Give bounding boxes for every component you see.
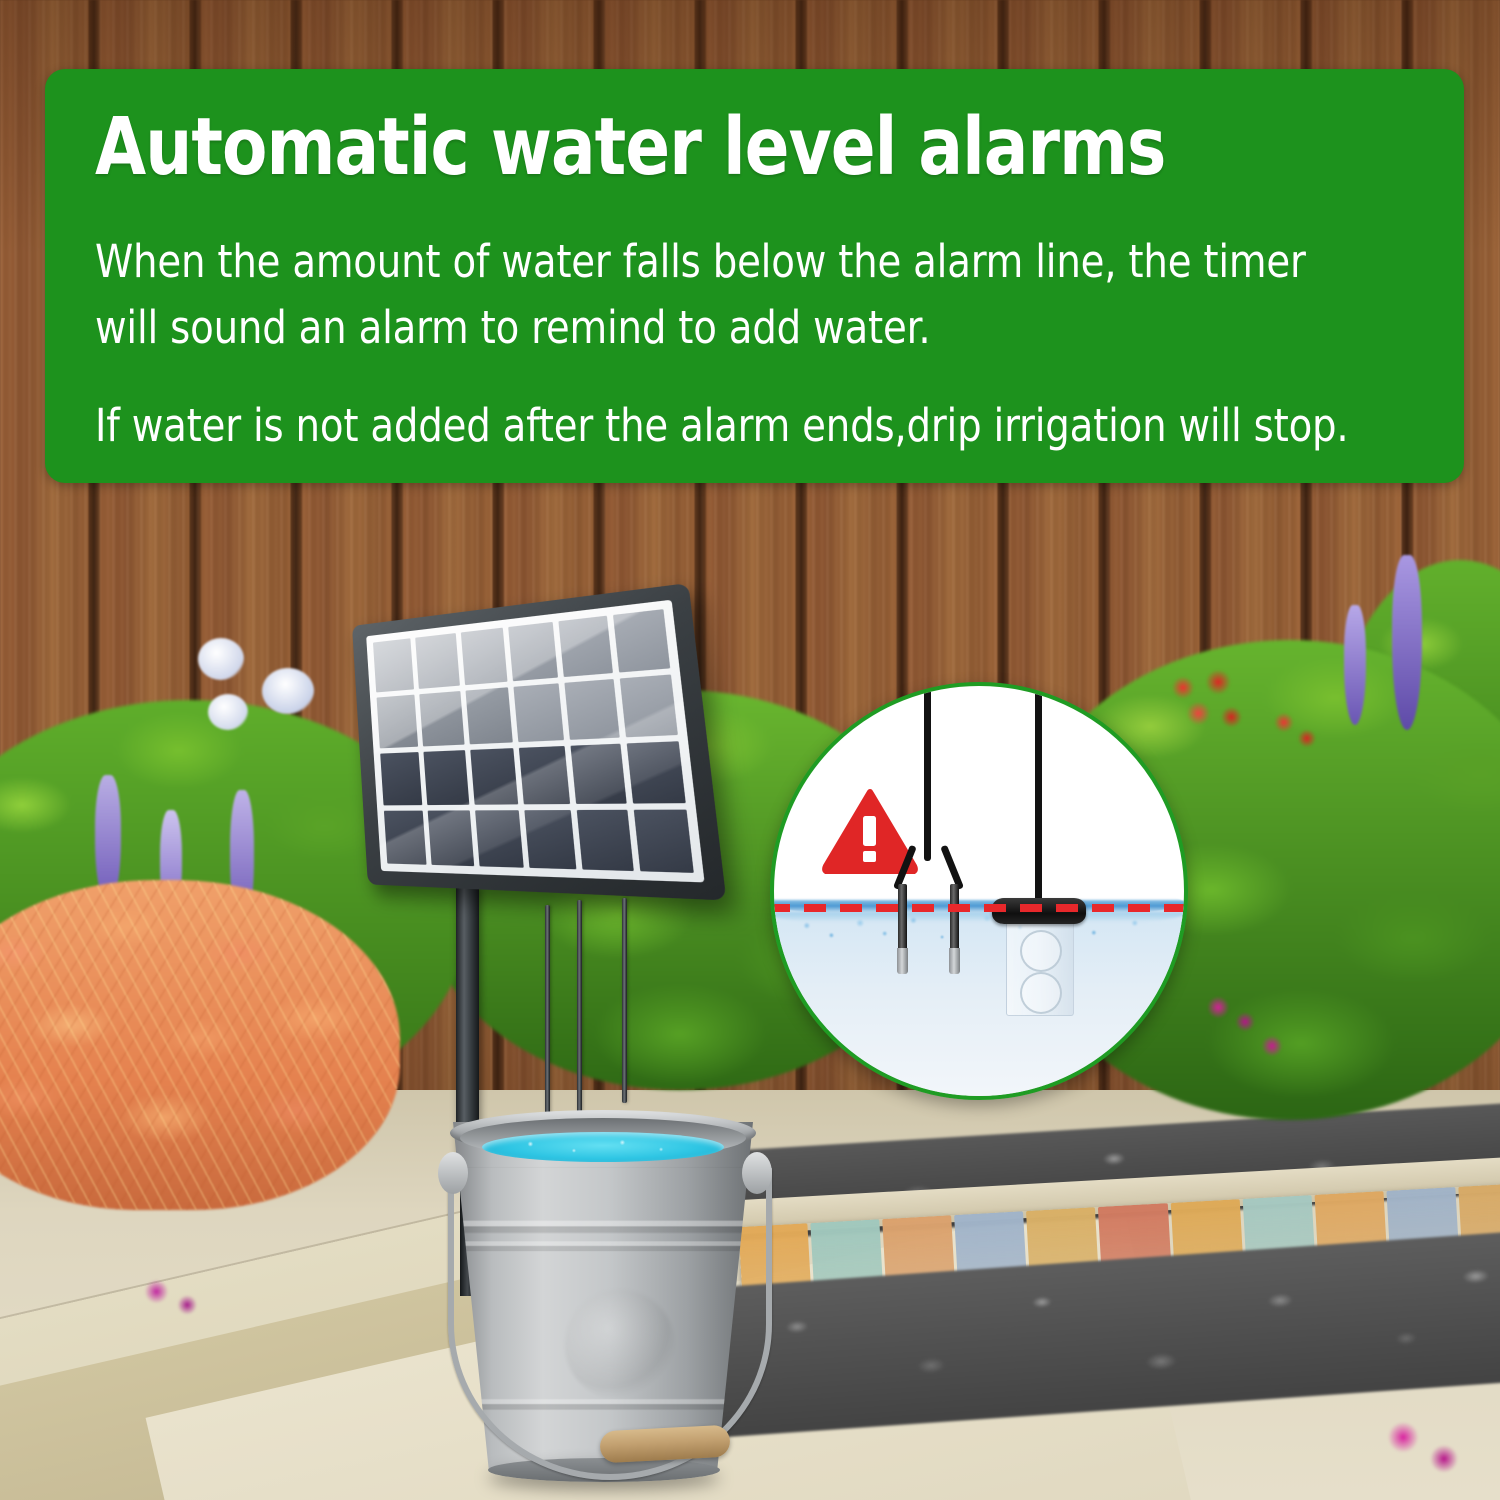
- plant-red-flower-2: [1258, 700, 1332, 764]
- solar-cell: [577, 810, 633, 871]
- plant-magenta-petunia-4: [120, 1262, 216, 1336]
- solar-cell: [384, 811, 427, 865]
- info-banner: Automatic water level alarms When the am…: [45, 69, 1464, 483]
- banner-paragraph-1: When the amount of water falls below the…: [95, 229, 1375, 361]
- probe-prong-left: [898, 884, 907, 952]
- filter-cable: [1035, 682, 1042, 904]
- solar-cell: [565, 679, 620, 740]
- bucket-handle-wood-grip: [599, 1425, 730, 1464]
- plant-purple-salvia-right-2: [1344, 605, 1366, 725]
- bucket-handle-lug-right: [742, 1152, 772, 1194]
- solar-cell: [428, 810, 474, 866]
- solar-cell: [613, 609, 671, 672]
- solar-cell: [373, 638, 414, 692]
- probe-cable-main: [924, 682, 931, 861]
- filter-port-lower: [1020, 972, 1062, 1014]
- solar-cell: [416, 633, 460, 689]
- solar-cell: [380, 752, 422, 805]
- plant-red-flower-1: [1150, 660, 1260, 752]
- plant-magenta-petunia-3: [1360, 1400, 1480, 1498]
- water-level-detail-inset: [770, 682, 1188, 1100]
- sensor-rod-3: [622, 898, 627, 1103]
- solar-cell: [626, 741, 686, 803]
- bucket-water-highlights: [482, 1132, 724, 1162]
- product-feature-image: Automatic water level alarms When the am…: [0, 0, 1500, 1500]
- solar-panel: [352, 626, 712, 926]
- plant-white-flower-3: [208, 694, 248, 730]
- solar-cell: [377, 695, 419, 749]
- solar-cell: [465, 687, 513, 744]
- solar-cell: [524, 810, 576, 869]
- bucket-handle-lug-left: [438, 1152, 468, 1194]
- solar-cell: [519, 746, 571, 804]
- solar-cell: [619, 674, 678, 737]
- solar-cell: [508, 622, 558, 681]
- filter-port-upper: [1020, 930, 1062, 972]
- solar-cell: [559, 616, 613, 677]
- inset-water-foam-bubbles: [774, 908, 1184, 952]
- plant-white-flower-1: [198, 638, 244, 680]
- solar-panel-cell-grid: [366, 600, 704, 883]
- banner-body: When the amount of water falls below the…: [95, 229, 1375, 459]
- solar-cell: [420, 691, 465, 746]
- solar-cell: [424, 750, 469, 805]
- solar-cell: [633, 810, 693, 873]
- probe-tip-left: [897, 948, 908, 974]
- plant-magenta-petunia-2: [1244, 1022, 1314, 1082]
- plant-purple-salvia-right: [1392, 555, 1422, 730]
- banner-title: Automatic water level alarms: [95, 105, 1332, 189]
- solar-cell: [460, 628, 507, 686]
- plant-white-flower-2: [262, 668, 314, 714]
- probe-prong-right: [950, 884, 959, 952]
- banner-paragraph-2: If water is not added after the alarm en…: [95, 393, 1375, 459]
- solar-panel-frame: [352, 583, 726, 900]
- solar-cell: [470, 748, 518, 805]
- probe-tip-right: [949, 948, 960, 974]
- alarm-line-indicator: [770, 904, 1188, 912]
- solar-cell: [513, 683, 564, 742]
- galvanized-bucket: [430, 1090, 780, 1490]
- solar-cell: [475, 810, 524, 867]
- solar-cell: [571, 744, 626, 804]
